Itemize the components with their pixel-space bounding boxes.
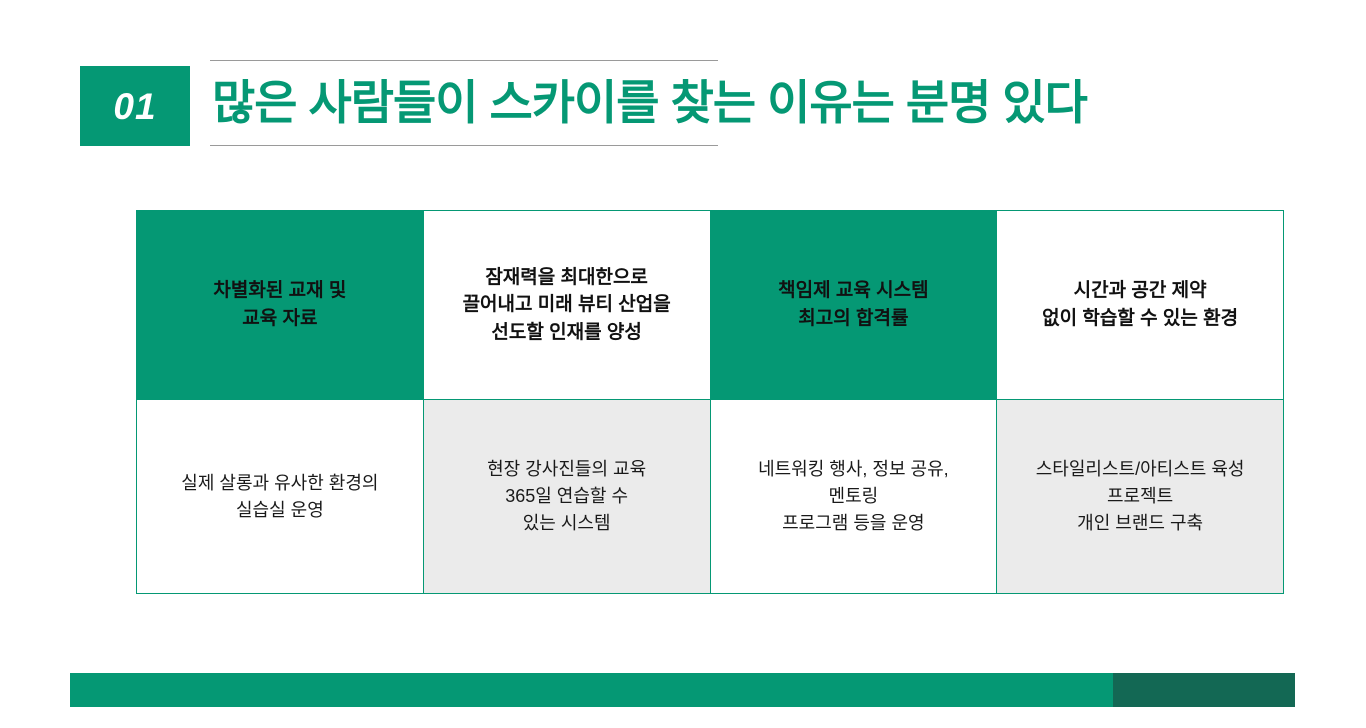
- table-body-cell-2: 현장 강사진들의 교육 365일 연습할 수 있는 시스템: [423, 400, 710, 594]
- table-body-row: 실제 살롱과 유사한 환경의 실습실 운영 현장 강사진들의 교육 365일 연…: [137, 400, 1284, 594]
- cell-line: 차별화된 교재 및: [145, 277, 415, 305]
- table-header-cell-1: 차별화된 교재 및 교육 자료: [137, 211, 424, 400]
- cell-line: 최고의 합격률: [719, 305, 989, 333]
- footer-bar-main-segment: [70, 673, 1113, 707]
- table-body-cell-3: 네트워킹 행사, 정보 공유, 멘토링 프로그램 등을 운영: [710, 400, 997, 594]
- cell-line: 있는 시스템: [432, 510, 702, 537]
- title-bottom-rule: [210, 145, 718, 146]
- table-header-cell-2: 잠재력을 최대한으로 끌어내고 미래 뷰티 산업을 선도할 인재를 양성: [423, 211, 710, 400]
- cell-text-lines: 현장 강사진들의 교육 365일 연습할 수 있는 시스템: [432, 456, 702, 537]
- table-header-row: 차별화된 교재 및 교육 자료 잠재력을 최대한으로 끌어내고 미래 뷰티 산업…: [137, 211, 1284, 400]
- cell-text-lines: 책임제 교육 시스템 최고의 합격률: [719, 277, 989, 332]
- cell-line: 없이 학습할 수 있는 환경: [1005, 305, 1275, 333]
- cell-line: 실제 살롱과 유사한 환경의: [145, 470, 415, 497]
- cell-text-lines: 스타일리스트/아티스트 육성 프로젝트 개인 브랜드 구축: [1005, 456, 1275, 537]
- title-top-rule: [210, 60, 718, 61]
- cell-text-lines: 잠재력을 최대한으로 끌어내고 미래 뷰티 산업을 선도할 인재를 양성: [432, 264, 702, 347]
- cell-line: 멘토링: [719, 483, 989, 510]
- footer-bar: [70, 673, 1295, 707]
- section-number-text: 01: [113, 88, 156, 125]
- cell-line: 365일 연습할 수: [432, 483, 702, 510]
- cell-line: 끌어내고 미래 뷰티 산업을: [432, 291, 702, 319]
- title-rule-group: [210, 60, 718, 61]
- cell-text-lines: 차별화된 교재 및 교육 자료: [145, 277, 415, 332]
- table-body-cell-1: 실제 살롱과 유사한 환경의 실습실 운영: [137, 400, 424, 594]
- cell-line: 프로젝트: [1005, 483, 1275, 510]
- cell-line: 네트워킹 행사, 정보 공유,: [719, 456, 989, 483]
- cell-line: 시간과 공간 제약: [1005, 277, 1275, 305]
- cell-line: 스타일리스트/아티스트 육성: [1005, 456, 1275, 483]
- section-number-badge: 01: [80, 66, 190, 146]
- cell-text-lines: 실제 살롱과 유사한 환경의 실습실 운영: [145, 470, 415, 524]
- cell-line: 실습실 운영: [145, 497, 415, 524]
- cell-line: 교육 자료: [145, 305, 415, 333]
- cell-line: 프로그램 등을 운영: [719, 510, 989, 537]
- cell-line: 책임제 교육 시스템: [719, 277, 989, 305]
- feature-comparison-table: 차별화된 교재 및 교육 자료 잠재력을 최대한으로 끌어내고 미래 뷰티 산업…: [136, 210, 1284, 594]
- page-title: 많은 사람들이 스카이를 찾는 이유는 분명 있다: [212, 64, 1087, 142]
- cell-line: 잠재력을 최대한으로: [432, 264, 702, 292]
- table-header-cell-3: 책임제 교육 시스템 최고의 합격률: [710, 211, 997, 400]
- cell-text-lines: 네트워킹 행사, 정보 공유, 멘토링 프로그램 등을 운영: [719, 456, 989, 537]
- cell-line: 선도할 인재를 양성: [432, 319, 702, 347]
- cell-text-lines: 시간과 공간 제약 없이 학습할 수 있는 환경: [1005, 277, 1275, 332]
- table-body-cell-4: 스타일리스트/아티스트 육성 프로젝트 개인 브랜드 구축: [997, 400, 1284, 594]
- slide-header: 01 많은 사람들이 스카이를 찾는 이유는 분명 있다: [0, 0, 1366, 180]
- footer-bar-accent-segment: [1113, 673, 1295, 707]
- cell-line: 현장 강사진들의 교육: [432, 456, 702, 483]
- cell-line: 개인 브랜드 구축: [1005, 510, 1275, 537]
- table-header-cell-4: 시간과 공간 제약 없이 학습할 수 있는 환경: [997, 211, 1284, 400]
